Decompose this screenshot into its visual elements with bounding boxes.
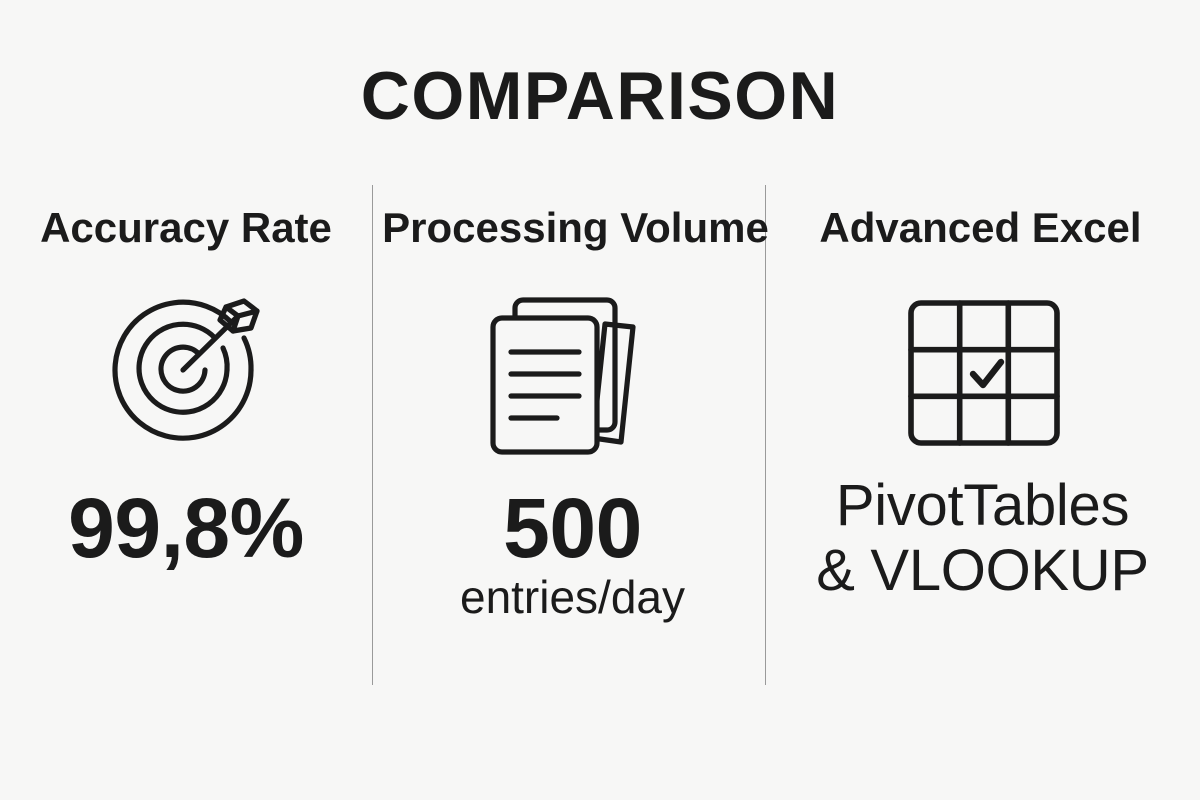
value-block-processing-volume: 500 entries/day	[376, 486, 769, 623]
value-advanced-excel-line-1: PivotTables	[765, 474, 1200, 539]
value-block-accuracy-rate: 99,8%	[0, 486, 372, 572]
spreadsheet-grid-check-icon	[901, 285, 1067, 460]
comparison-infographic: COMPARISON Accuracy Rate	[0, 0, 1200, 800]
value-accuracy-rate: 99,8%	[0, 486, 372, 572]
value-block-advanced-excel: PivotTables & VLOOKUP	[765, 474, 1200, 604]
page-title: COMPARISON	[0, 62, 1200, 130]
value-processing-volume: 500	[376, 486, 769, 572]
documents-stack-icon	[487, 285, 659, 460]
comparison-column-advanced-excel: Advanced Excel PivotTables & VLOOKUP	[765, 185, 1200, 685]
column-header-accuracy-rate: Accuracy Rate	[40, 207, 332, 249]
comparison-column-processing-volume: Processing Volume 500	[372, 185, 765, 685]
comparison-columns: Accuracy Rate	[0, 185, 1200, 685]
column-header-processing-volume: Processing Volume	[382, 207, 769, 249]
comparison-column-accuracy-rate: Accuracy Rate	[0, 185, 372, 685]
column-header-advanced-excel: Advanced Excel	[819, 207, 1141, 249]
value-advanced-excel-line-2: & VLOOKUP	[765, 539, 1200, 604]
target-arrow-icon	[98, 285, 274, 460]
value-unit-processing-volume: entries/day	[376, 572, 769, 624]
